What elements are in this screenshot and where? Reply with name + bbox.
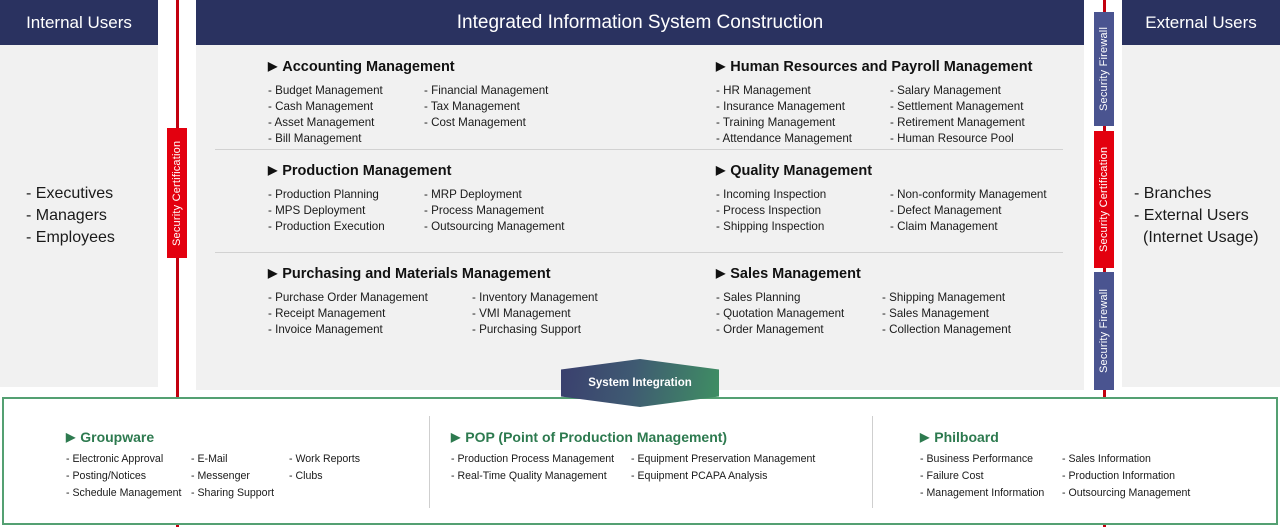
module-sublist-col1: - Incoming Inspection - Process Inspecti…: [716, 187, 890, 235]
external-users-body: - Branches - External Users (Internet Us…: [1122, 45, 1280, 387]
list-item: - Shipping Inspection: [716, 219, 890, 235]
list-item: - Attendance Management: [716, 131, 890, 147]
triangle-marker-icon: ▶: [716, 163, 725, 177]
list-item: - Incoming Inspection: [716, 187, 890, 203]
triangle-marker-icon: ▶: [268, 266, 277, 280]
hexagon-shape: System Integration: [561, 359, 719, 407]
module-hr-payroll-management[interactable]: ▶Human Resources and Payroll Management …: [640, 45, 1084, 149]
module-row: ▶Purchasing and Materials Management - P…: [196, 252, 1084, 355]
list-item: - Process Management: [424, 203, 565, 219]
list-item: (Internet Usage): [1134, 227, 1259, 249]
list-item: - Order Management: [716, 322, 882, 338]
module-title: ▶Production Management: [268, 163, 640, 179]
list-item: - MPS Deployment: [268, 203, 424, 219]
section-sublist-col1: - Production Process Management - Real-T…: [451, 451, 631, 485]
section-groupware[interactable]: ▶Groupware - Electronic Approval - Posti…: [4, 399, 429, 523]
section-sublist-col2: - E-Mail - Messenger - Sharing Support: [191, 451, 289, 502]
list-item: - HR Management: [716, 83, 890, 99]
module-title: ▶Human Resources and Payroll Management: [716, 59, 1084, 75]
list-item: - Non-conformity Management: [890, 187, 1047, 203]
list-item: - Production Process Management: [451, 451, 631, 468]
module-sublist-col2: - MRP Deployment - Process Management - …: [424, 187, 565, 235]
list-item: - Purchase Order Management: [268, 290, 472, 306]
system-integration-badge: System Integration: [561, 359, 719, 407]
internal-users-body: - Executives - Managers - Employees: [0, 45, 158, 387]
external-users-column: External Users - Branches - External Use…: [1122, 0, 1280, 387]
list-item: - VMI Management: [472, 306, 598, 322]
module-sublist-col1: - Purchase Order Management - Receipt Ma…: [268, 290, 472, 338]
list-item: - Sales Planning: [716, 290, 882, 306]
list-item: - Sales Management: [882, 306, 1011, 322]
module-purchasing-materials-management[interactable]: ▶Purchasing and Materials Management - P…: [196, 252, 640, 355]
triangle-marker-icon: ▶: [451, 430, 460, 444]
list-item: - Asset Management: [268, 115, 424, 131]
triangle-marker-icon: ▶: [920, 430, 929, 444]
module-row: ▶Accounting Management - Budget Manageme…: [196, 45, 1084, 149]
list-item: - Insurance Management: [716, 99, 890, 115]
list-item: - Sharing Support: [191, 485, 289, 502]
list-item: - Budget Management: [268, 83, 424, 99]
system-integration-label: System Integration: [588, 377, 692, 389]
external-users-title: External Users: [1122, 0, 1280, 45]
list-item: - Production Information: [1062, 468, 1190, 485]
integrated-system-panel: Integrated Information System Constructi…: [196, 0, 1084, 390]
section-sublist-col3: - Sales Information - Production Informa…: [1062, 451, 1190, 502]
list-item: - Failure Cost: [920, 468, 1062, 485]
list-item: - Process Inspection: [716, 203, 890, 219]
list-item: - Purchasing Support: [472, 322, 598, 338]
list-item: - Training Management: [716, 115, 890, 131]
list-item: - Work Reports: [289, 451, 360, 468]
list-item: - External Users: [1134, 205, 1259, 227]
page-title: Integrated Information System Constructi…: [196, 0, 1084, 45]
module-sales-management[interactable]: ▶Sales Management - Sales Planning - Quo…: [640, 252, 1084, 355]
triangle-marker-icon: ▶: [716, 266, 725, 280]
list-item: - Production Execution: [268, 219, 424, 235]
list-item: - Salary Management: [890, 83, 1025, 99]
module-sublist-col2: - Shipping Management - Sales Management…: [882, 290, 1011, 338]
section-sublist-col1: - Business Performance - Failure Cost - …: [920, 451, 1062, 502]
list-item: - Electronic Approval: [66, 451, 191, 468]
triangle-marker-icon: ▶: [716, 59, 725, 73]
module-accounting-management[interactable]: ▶Accounting Management - Budget Manageme…: [196, 45, 640, 149]
list-item: - Posting/Notices: [66, 468, 191, 485]
list-item: - Executives: [26, 183, 115, 205]
system-architecture-diagram: Internal Users - Executives - Managers -…: [0, 0, 1280, 527]
list-item: - Collection Management: [882, 322, 1011, 338]
list-item: - Cash Management: [268, 99, 424, 115]
module-title: ▶Purchasing and Materials Management: [268, 266, 640, 282]
list-item: - Inventory Management: [472, 290, 598, 306]
list-item: - Clubs: [289, 468, 360, 485]
list-item: - Production Planning: [268, 187, 424, 203]
module-grid-body: ▶Accounting Management - Budget Manageme…: [196, 45, 1084, 390]
section-sublist-col2: - Equipment Preservation Management - Eq…: [631, 451, 815, 485]
internal-users-title: Internal Users: [0, 0, 158, 45]
list-item: - E-Mail: [191, 451, 289, 468]
list-item: - Tax Management: [424, 99, 548, 115]
list-item: - Defect Management: [890, 203, 1047, 219]
internal-users-column: Internal Users - Executives - Managers -…: [0, 0, 158, 387]
triangle-marker-icon: ▶: [268, 59, 277, 73]
list-item: - Managers: [26, 205, 115, 227]
divider: [215, 252, 1063, 253]
security-certification-ribbon-left: Security Certification: [167, 128, 187, 258]
external-users-list: - Branches - External Users (Internet Us…: [1134, 183, 1259, 249]
internal-users-list: - Executives - Managers - Employees: [26, 183, 115, 249]
list-item: - Bill Management: [268, 131, 424, 147]
list-item: - Business Performance: [920, 451, 1062, 468]
list-item: - MRP Deployment: [424, 187, 565, 203]
triangle-marker-icon: ▶: [268, 163, 277, 177]
list-item: - Cost Management: [424, 115, 548, 131]
list-item: - Shipping Management: [882, 290, 1011, 306]
divider: [215, 149, 1063, 150]
section-title: ▶POP (Point of Production Management): [451, 429, 872, 445]
list-item: - Employees: [26, 227, 115, 249]
triangle-marker-icon: ▶: [66, 430, 75, 444]
module-sublist-col1: - Production Planning - MPS Deployment -…: [268, 187, 424, 235]
list-item: - Receipt Management: [268, 306, 472, 322]
module-quality-management[interactable]: ▶Quality Management - Incoming Inspectio…: [640, 149, 1084, 252]
list-item: - Outsourcing Management: [424, 219, 565, 235]
module-row: ▶Production Management - Production Plan…: [196, 149, 1084, 252]
section-sublist-col1: - Electronic Approval - Posting/Notices …: [66, 451, 191, 502]
security-firewall-ribbon-top: Security Firewall: [1094, 12, 1114, 126]
list-item: - Financial Management: [424, 83, 548, 99]
list-item: - Equipment PCAPA Analysis: [631, 468, 815, 485]
list-item: - Settlement Management: [890, 99, 1025, 115]
module-title: ▶Sales Management: [716, 266, 1084, 282]
module-production-management[interactable]: ▶Production Management - Production Plan…: [196, 149, 640, 252]
list-item: - Claim Management: [890, 219, 1047, 235]
module-sublist-col1: - Sales Planning - Quotation Management …: [716, 290, 882, 338]
module-grid: ▶Accounting Management - Budget Manageme…: [196, 45, 1084, 355]
section-sublist-col3: - Work Reports - Clubs: [289, 451, 360, 502]
list-item: - Invoice Management: [268, 322, 472, 338]
section-philboard[interactable]: ▶Philboard - Business Performance - Fail…: [872, 399, 1276, 523]
module-sublist-col1: - Budget Management - Cash Management - …: [268, 83, 424, 147]
list-item: - Branches: [1134, 183, 1259, 205]
module-sublist-col2: - Financial Management - Tax Management …: [424, 83, 548, 147]
security-firewall-ribbon-bottom: Security Firewall: [1094, 272, 1114, 390]
module-sublist-col1: - HR Management - Insurance Management -…: [716, 83, 890, 147]
list-item: - Outsourcing Management: [1062, 485, 1190, 502]
module-sublist-col2: - Inventory Management - VMI Management …: [472, 290, 598, 338]
supporting-systems-panel: ▶Groupware - Electronic Approval - Posti…: [2, 397, 1278, 525]
section-pop[interactable]: ▶POP (Point of Production Management) - …: [429, 399, 872, 523]
module-title: ▶Quality Management: [716, 163, 1084, 179]
module-sublist-col2: - Non-conformity Management - Defect Man…: [890, 187, 1047, 235]
list-item: - Quotation Management: [716, 306, 882, 322]
module-sublist-col2: - Salary Management - Settlement Managem…: [890, 83, 1025, 147]
list-item: - Management Information: [920, 485, 1062, 502]
list-item: - Equipment Preservation Management: [631, 451, 815, 468]
section-title: ▶Philboard: [920, 429, 1276, 445]
list-item: - Sales Information: [1062, 451, 1190, 468]
section-title: ▶Groupware: [66, 429, 429, 445]
security-certification-ribbon-right: Security Certification: [1094, 131, 1114, 268]
list-item: - Real-Time Quality Management: [451, 468, 631, 485]
list-item: - Schedule Management: [66, 485, 191, 502]
list-item: - Messenger: [191, 468, 289, 485]
list-item: - Human Resource Pool: [890, 131, 1025, 147]
list-item: - Retirement Management: [890, 115, 1025, 131]
module-title: ▶Accounting Management: [268, 59, 640, 75]
